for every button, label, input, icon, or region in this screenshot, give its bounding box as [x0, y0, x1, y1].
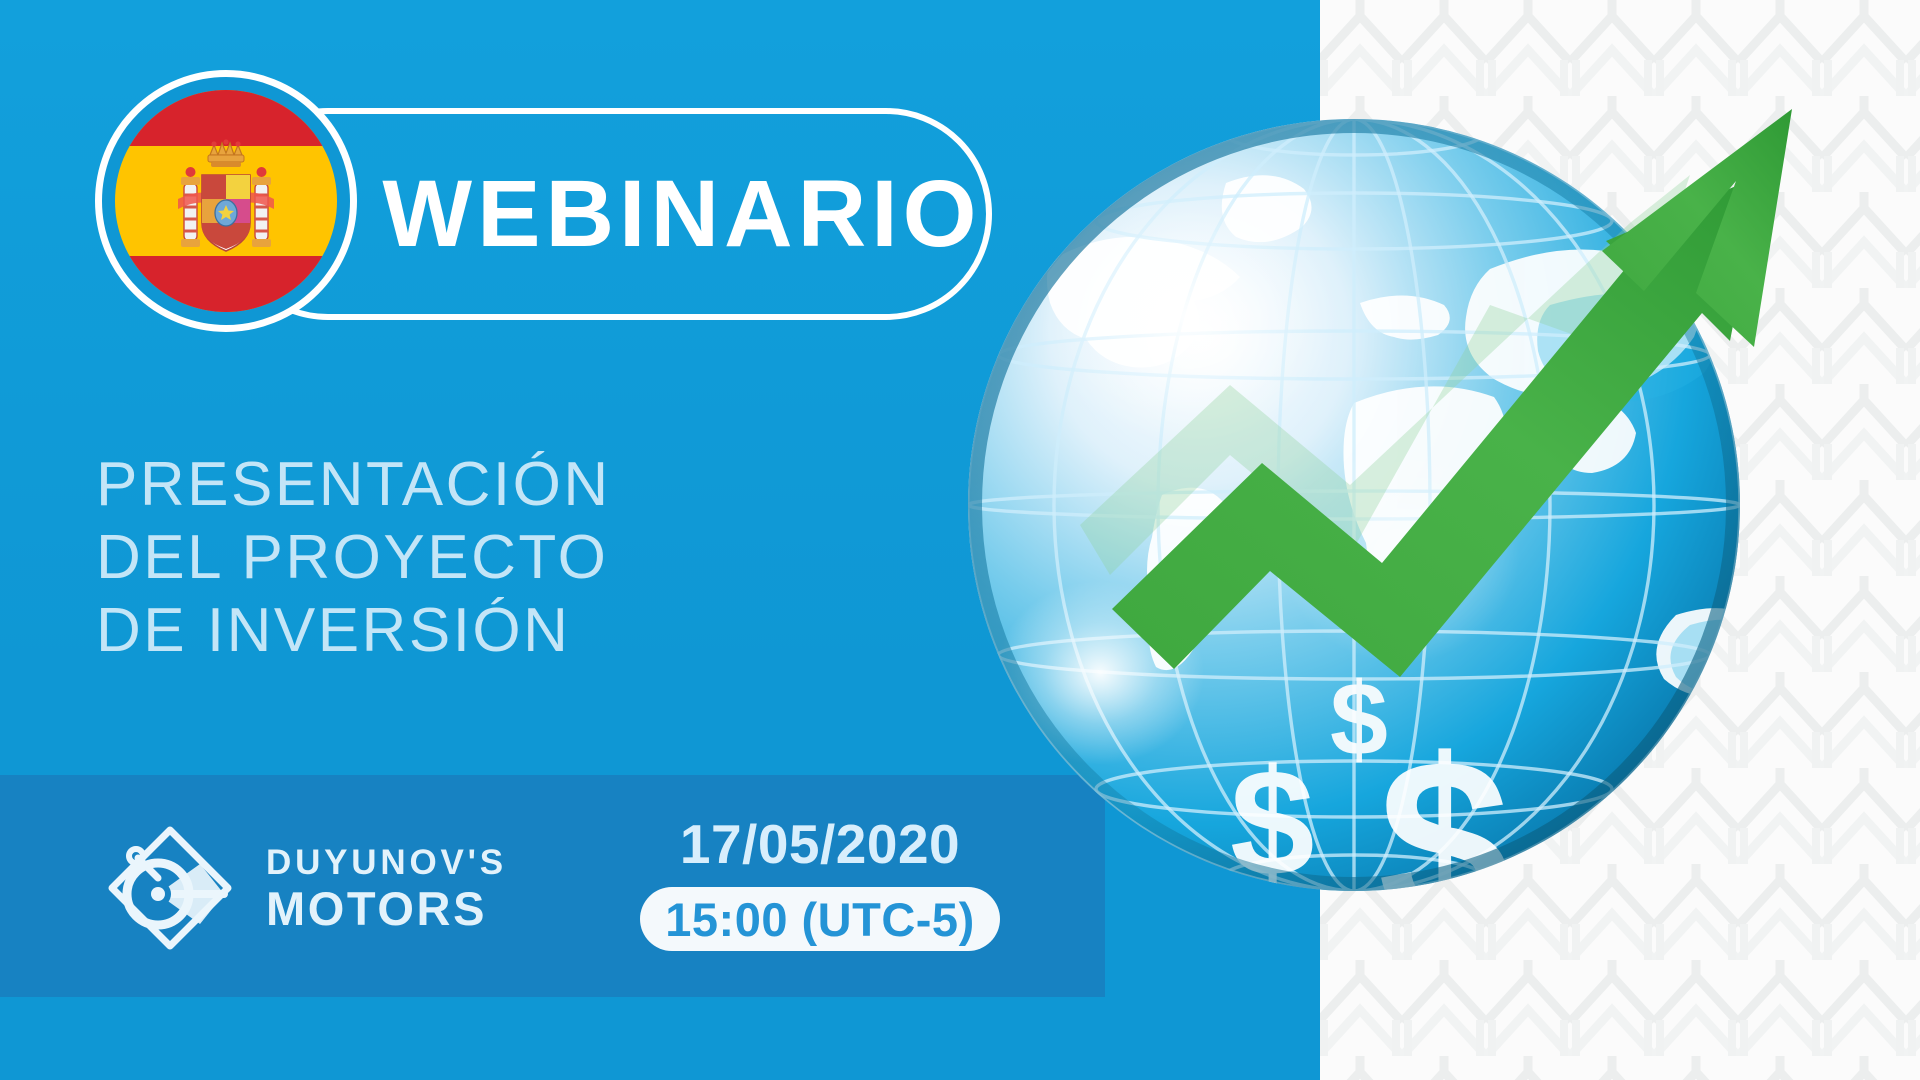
coat-of-arms-icon [170, 139, 282, 263]
globe-icon: $ $ $ $ [930, 55, 1850, 1010]
flag-stripe-top [115, 90, 337, 146]
brand-wordmark: DUYUNOV'S MOTORS [266, 845, 507, 932]
page-subtitle: PRESENTACIÓN DEL PROYECTO DE INVERSIÓN [96, 448, 736, 667]
dollar-sign-4: $ [1570, 811, 1621, 913]
dollar-sign-1: $ [1330, 662, 1388, 778]
event-time: 15:00 (UTC-5) [665, 892, 974, 947]
brand-line-1: DUYUNOV'S [266, 845, 507, 880]
subtitle-line-1: PRESENTACIÓN [96, 448, 736, 521]
page-title: WEBINARIO [382, 167, 981, 262]
subtitle-line-2: DEL PROYECTO [96, 521, 736, 594]
subtitle-line-3: DE INVERSIÓN [96, 594, 736, 667]
brand-logo: DUYUNOV'S MOTORS [100, 818, 507, 958]
dollar-sign-3: $ [1378, 711, 1510, 976]
brand-line-2: MOTORS [266, 885, 507, 932]
flag-inner [115, 90, 337, 312]
spain-flag-icon [95, 70, 357, 332]
globe-highlight-top [1038, 191, 1338, 443]
webinar-banner: WEBINARIO [0, 0, 1920, 1080]
flag-stripe-bottom [115, 256, 337, 312]
duyunov-motors-logo-icon [100, 818, 240, 958]
